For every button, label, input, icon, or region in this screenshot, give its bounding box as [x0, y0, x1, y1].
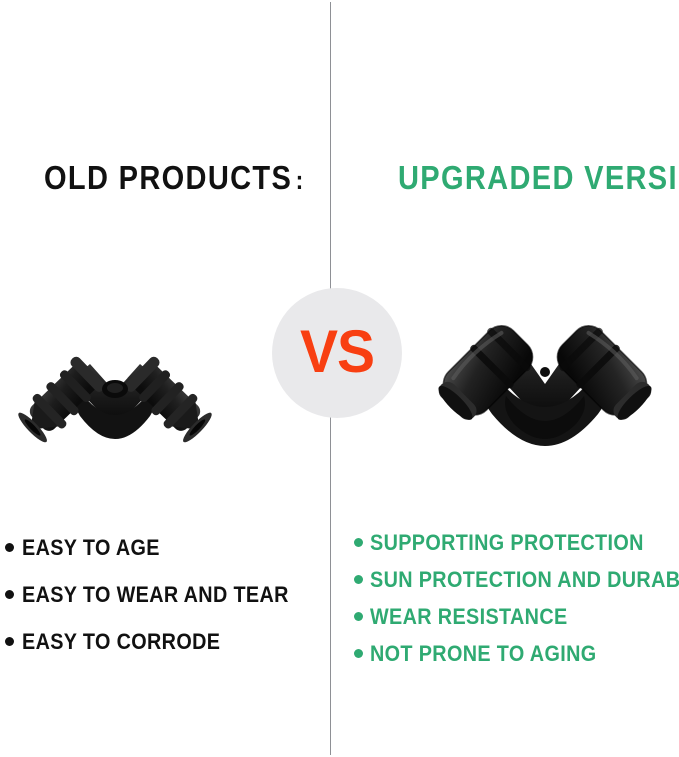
- list-item: WEAR RESISTANCE: [348, 598, 679, 635]
- bullet-icon: [5, 543, 14, 552]
- list-item: SUPPORTING PROTECTION: [348, 524, 679, 561]
- upgraded-product-feature-list: SUPPORTING PROTECTION SUN PROTECTION AND…: [348, 524, 679, 672]
- bullet-icon: [5, 590, 14, 599]
- vs-label: VS: [300, 322, 374, 382]
- comparison-infographic: OLD PRODUCTS: UPGRADED VERSION:: [0, 0, 679, 757]
- old-product-image: [0, 296, 230, 466]
- list-item: EASY TO WEAR AND TEAR: [0, 571, 320, 618]
- feature-text: SUPPORTING PROTECTION: [370, 532, 644, 554]
- bullet-icon: [5, 637, 14, 646]
- bullet-icon: [354, 538, 363, 547]
- list-item: SUN PROTECTION AND DURABILITY: [348, 561, 679, 598]
- list-item: NOT PRONE TO AGING: [348, 635, 679, 672]
- bullet-icon: [354, 649, 363, 658]
- feature-text: SUN PROTECTION AND DURABILITY: [370, 569, 679, 591]
- feature-text: EASY TO CORRODE: [22, 631, 220, 653]
- vs-badge: VS: [272, 288, 402, 418]
- bullet-icon: [354, 575, 363, 584]
- upgraded-product-image: [420, 286, 670, 471]
- feature-text: NOT PRONE TO AGING: [370, 643, 597, 665]
- feature-text: EASY TO WEAR AND TEAR: [22, 584, 289, 606]
- feature-text: WEAR RESISTANCE: [370, 606, 568, 628]
- list-item: EASY TO AGE: [0, 524, 320, 571]
- old-products-heading: OLD PRODUCTS:: [44, 161, 303, 194]
- upgraded-version-heading: UPGRADED VERSION:: [398, 161, 679, 194]
- list-item: EASY TO CORRODE: [0, 618, 320, 665]
- old-products-heading-text: OLD PRODUCTS: [44, 159, 292, 196]
- feature-text: EASY TO AGE: [22, 537, 160, 559]
- bullet-icon: [354, 612, 363, 621]
- old-product-feature-list: EASY TO AGE EASY TO WEAR AND TEAR EASY T…: [0, 524, 320, 665]
- old-products-heading-colon: :: [292, 165, 303, 195]
